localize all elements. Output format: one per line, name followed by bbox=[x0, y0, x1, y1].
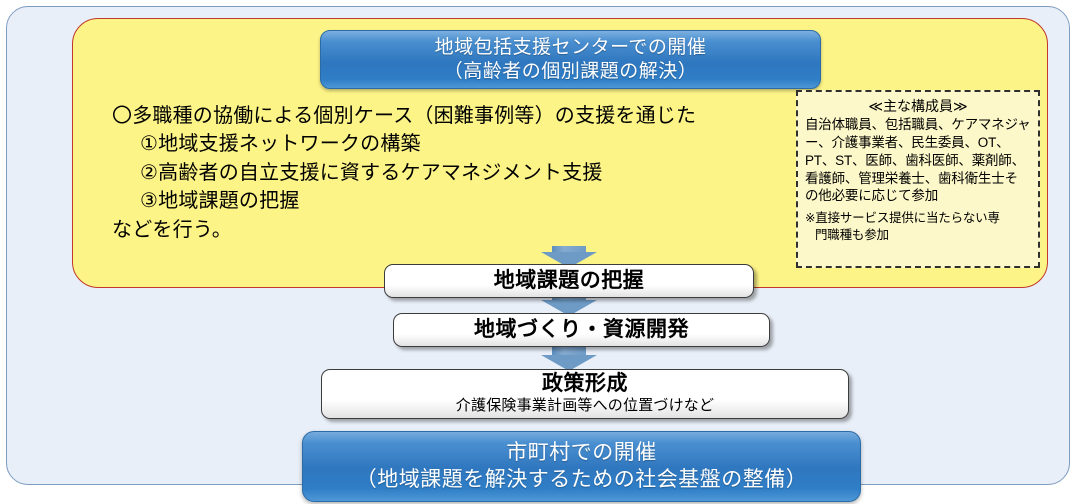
footer-title-box: 市町村での開催 （地域課題を解決するための社会基盤の整備） bbox=[302, 431, 861, 502]
main-description-line-2: ①地域支援ネットワークの構築 bbox=[112, 130, 792, 158]
flow-box-3-subtitle: 介護保険事業計画等への位置づけなど bbox=[456, 397, 714, 414]
main-description-line-5: などを行う。 bbox=[112, 216, 792, 244]
header-title-line2: （高齢者の個別課題の解決） bbox=[444, 60, 698, 83]
main-description: 〇多職種の協働による個別ケース（困難事例等）の支援を通じた ①地域支援ネットワー… bbox=[112, 102, 792, 244]
footer-title-line1: 市町村での開催 bbox=[506, 440, 657, 466]
flow-box-3-title: 政策形成 bbox=[542, 373, 628, 395]
main-description-line-3: ②高齢者の自立支援に資するケアマネジメント支援 bbox=[112, 159, 792, 187]
flow-box-2: 地域づくり・資源開発 bbox=[393, 313, 770, 347]
flow-box-2-title: 地域づくり・資源開発 bbox=[474, 319, 689, 341]
header-title-box: 地域包括支援センターでの開催 （高齢者の個別課題の解決） bbox=[320, 30, 821, 89]
members-box-note-line2: 門職種も参加 bbox=[805, 227, 1033, 244]
members-box-body: 自治体職員、包括職員、ケアマネジャー、介護事業者、民生委員、OT、PT、ST、医… bbox=[805, 116, 1031, 205]
arrow-down-icon-3 bbox=[541, 345, 597, 371]
flow-box-3: 政策形成 介護保険事業計画等への位置づけなど bbox=[321, 369, 849, 419]
flow-box-1-title: 地域課題の把握 bbox=[494, 270, 645, 292]
diagram-canvas: 地域包括支援センターでの開催 （高齢者の個別課題の解決） 〇多職種の協働による個… bbox=[0, 0, 1081, 504]
main-description-line-4: ③地域課題の把握 bbox=[112, 187, 792, 215]
main-description-line-1: 〇多職種の協働による個別ケース（困難事例等）の支援を通じた bbox=[112, 102, 792, 130]
members-box-title: ≪主な構成員≫ bbox=[805, 97, 1031, 115]
members-box-note-line1: ※直接サービス提供に当たらない専 bbox=[805, 210, 1033, 227]
flow-box-1: 地域課題の把握 bbox=[384, 264, 754, 298]
members-box: ≪主な構成員≫ 自治体職員、包括職員、ケアマネジャー、介護事業者、民生委員、OT… bbox=[796, 90, 1040, 268]
members-box-note: ※直接サービス提供に当たらない専 門職種も参加 bbox=[805, 210, 1033, 244]
header-title-line1: 地域包括支援センターでの開催 bbox=[435, 36, 707, 59]
footer-title-line2: （地域課題を解決するための社会基盤の整備） bbox=[356, 467, 808, 493]
